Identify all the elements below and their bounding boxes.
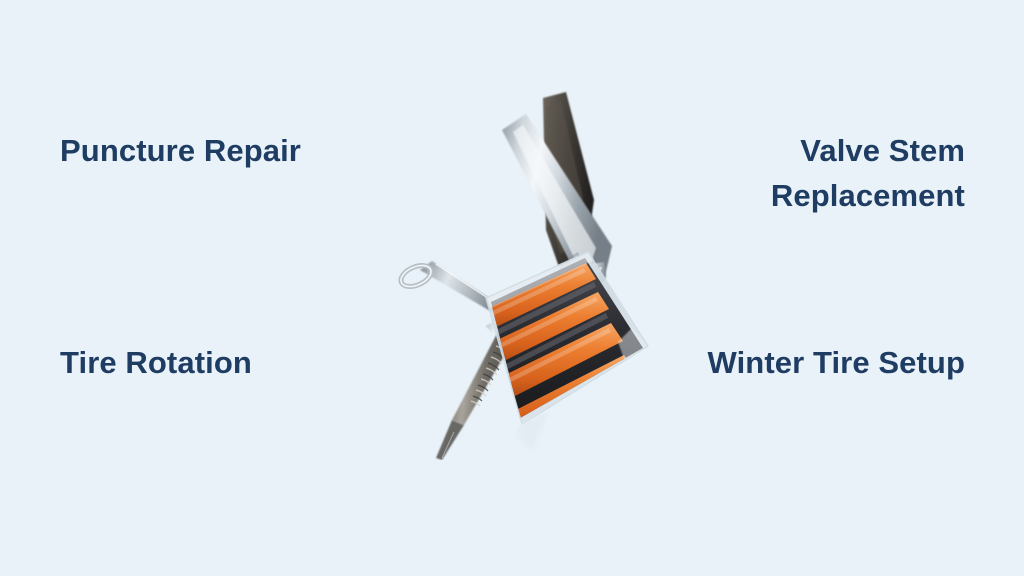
slide-canvas: Puncture Repair Tire Rotation Valve Stem… <box>0 0 1024 576</box>
tire-repair-kit-illustration <box>380 80 650 460</box>
tire-repair-kit-image <box>380 80 650 460</box>
label-puncture-repair: Puncture Repair <box>60 128 390 173</box>
label-valve-stem-replacement: Valve Stem Replacement <box>605 128 965 218</box>
label-winter-tire-setup: Winter Tire Setup <box>605 340 965 385</box>
label-tire-rotation: Tire Rotation <box>60 340 390 385</box>
